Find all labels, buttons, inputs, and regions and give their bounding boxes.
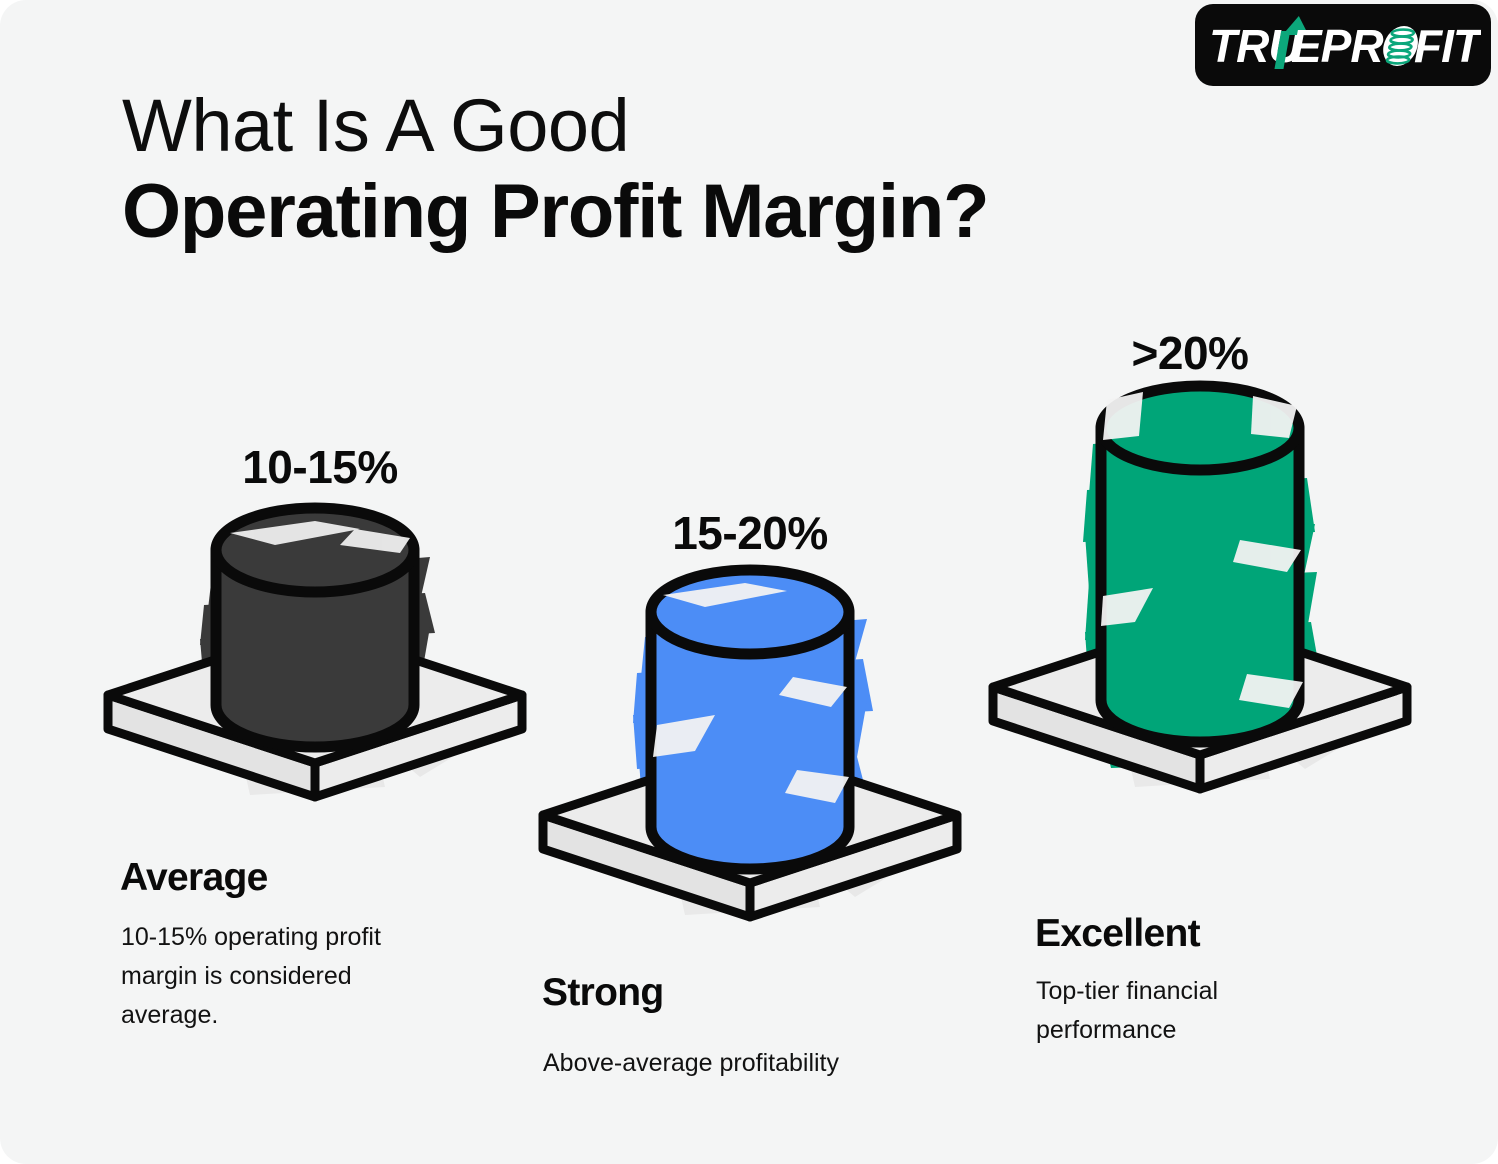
infographic-canvas: TRU EPR FI [0,0,1498,1164]
pct-label-average: 10-15% [195,440,445,494]
tier-title-average: Average [120,856,268,900]
tier-desc-strong: Above-average profitability [543,1044,963,1083]
tier-desc-excellent: Top-tier financial performance [1036,972,1296,1050]
cylinder-figure-strong [535,565,965,955]
tier-desc-average: 10-15% operating profit margin is consid… [121,918,451,1034]
pct-label-excellent: >20% [1065,326,1315,380]
cylinder-figure-average [100,505,530,835]
title-line-2: Operating Profit Margin? [122,166,1172,259]
svg-text:FIT: FIT [1414,20,1481,72]
tier-title-excellent: Excellent [1035,912,1200,956]
trueprofit-logo: TRU EPR FI [1195,4,1491,86]
pct-label-strong: 15-20% [625,506,875,560]
page-title: What Is A Good Operating Profit Margin? [122,86,1172,259]
cylinder-strong [651,570,849,869]
cylinder-figure-excellent [985,382,1415,822]
tier-title-strong: Strong [542,971,663,1015]
svg-text:EPR: EPR [1291,20,1383,72]
logo-wordmark-icon: TRU EPR FI [1209,16,1481,72]
title-line-1: What Is A Good [122,86,1172,166]
